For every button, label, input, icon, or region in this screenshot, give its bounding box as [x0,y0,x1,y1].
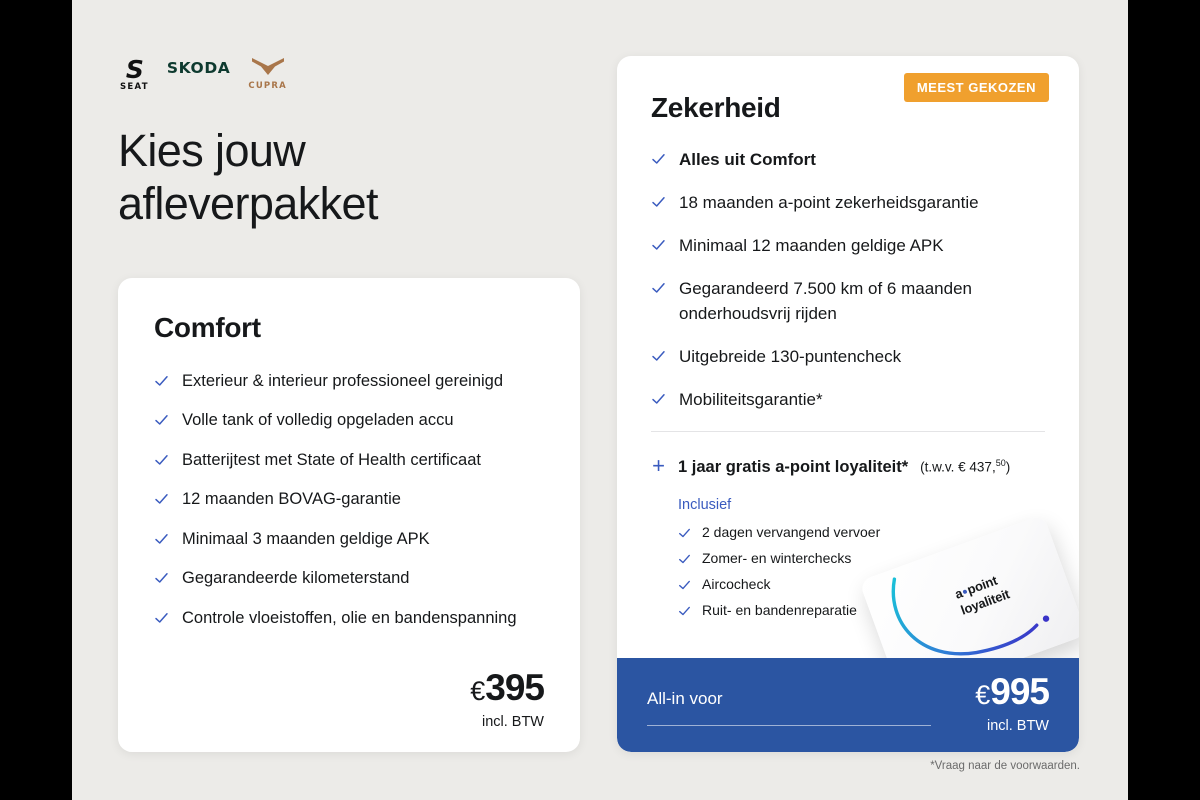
loyalty-value-suffix: ) [1006,460,1011,475]
brand-logo-bar: S SEAT SKODA CUPRA [120,55,287,93]
zekerheid-price-block: €995 incl. BTW [975,673,1049,734]
zekerheid-feature-list: Alles uit Comfort 18 maanden a-point zek… [651,148,1045,412]
list-item: Gegarandeerd 7.500 km of 6 maanden onder… [651,277,1045,325]
seat-wordmark: SEAT [120,83,149,92]
check-icon [678,579,691,592]
currency-symbol: € [975,680,989,710]
footnote-text: *Vraag naar de voorwaarden. [930,760,1080,772]
check-icon [678,553,691,566]
list-item-label: 18 maanden a-point zekerheidsgarantie [679,191,979,215]
price-value: 995 [990,671,1049,712]
loyalty-title: 1 jaar gratis a-point loyaliteit* [678,458,908,477]
check-icon [154,453,169,468]
check-icon [154,413,169,428]
price-value: 395 [485,667,544,708]
seat-logo: S SEAT [120,57,149,92]
list-item-label: Batterijtest met State of Health certifi… [182,449,481,472]
list-item: Minimaal 12 maanden geldige APK [651,234,1045,258]
list-item-label: Gegarandeerde kilometerstand [182,567,409,590]
zekerheid-vat-note: incl. BTW [975,718,1049,734]
list-item-label: Exterieur & interieur professioneel gere… [182,370,503,393]
list-item: Batterijtest met State of Health certifi… [154,449,544,472]
zekerheid-price-bar: All-in voor €995 incl. BTW [617,658,1079,752]
list-item-label: Uitgebreide 130-puntencheck [679,345,901,369]
seat-mark-icon: S [120,57,149,82]
list-item-label: Volle tank of volledig opgeladen accu [182,409,454,432]
check-icon [651,281,666,296]
list-item: 12 maanden BOVAG-garantie [154,488,544,511]
page-title: Kies jouw afleverpakket [118,124,548,230]
cupra-mark-icon [248,57,287,80]
package-card-comfort[interactable]: Comfort Exterieur & interieur profession… [118,278,580,752]
list-item-label: 2 dagen vervangend vervoer [702,524,880,540]
comfort-title: Comfort [154,312,544,344]
list-item-label: Aircocheck [702,576,770,592]
list-item-label: Alles uit Comfort [679,148,816,172]
list-item: 18 maanden a-point zekerheidsgarantie [651,191,1045,215]
comfort-price-amount: €395 [470,669,544,706]
list-item-label: Minimaal 12 maanden geldige APK [679,234,944,258]
list-item: Volle tank of volledig opgeladen accu [154,409,544,432]
check-icon [651,238,666,253]
check-icon [154,492,169,507]
list-item: Gegarandeerde kilometerstand [154,567,544,590]
check-icon [678,527,691,540]
comfort-vat-note: incl. BTW [470,714,544,730]
list-item: Alles uit Comfort [651,148,1045,172]
list-item: Controle vloeistoffen, olie en bandenspa… [154,607,544,630]
price-bar-rule [647,725,931,726]
loyalty-value-cents: 50 [996,458,1006,468]
comfort-price-block: €395 incl. BTW [470,669,544,730]
check-icon [678,605,691,618]
comfort-feature-list: Exterieur & interieur professioneel gere… [154,370,544,630]
loyalty-value-prefix: (t.w.v. € 437, [920,460,996,475]
currency-symbol: € [470,676,484,706]
skoda-logo: SKODA [167,59,231,77]
list-item-label: Minimaal 3 maanden geldige APK [182,528,430,551]
package-card-zekerheid[interactable]: MEEST GEKOZEN Zekerheid Alles uit Comfor… [617,56,1079,752]
check-icon [154,611,169,626]
check-icon [651,349,666,364]
content-canvas: S SEAT SKODA CUPRA Kies jouw afleverpakk… [72,0,1128,800]
section-divider [651,431,1045,432]
loyalty-value-note: (t.w.v. € 437,50) [920,458,1010,475]
list-item-label: Zomer- en winterchecks [702,550,851,566]
check-icon [154,532,169,547]
list-item: Minimaal 3 maanden geldige APK [154,528,544,551]
check-icon [651,392,666,407]
check-icon [154,571,169,586]
zekerheid-price-amount: €995 [975,673,1049,710]
cupra-wordmark: CUPRA [248,82,287,91]
list-item-label: 12 maanden BOVAG-garantie [182,488,401,511]
status-badge: MEEST GEKOZEN [904,73,1049,102]
plus-icon: + [651,455,666,477]
check-icon [154,374,169,389]
check-icon [651,152,666,167]
list-item: Uitgebreide 130-puntencheck [651,345,1045,369]
list-item-label: Controle vloeistoffen, olie en bandenspa… [182,607,517,630]
list-item-label: Ruit- en bandenreparatie [702,602,857,618]
list-item: Exterieur & interieur professioneel gere… [154,370,544,393]
list-item-label: Gegarandeerd 7.500 km of 6 maanden onder… [679,277,1045,325]
allin-label: All-in voor [647,689,723,709]
loyalty-heading-row: + 1 jaar gratis a-point loyaliteit* (t.w… [651,454,1045,477]
check-icon [651,195,666,210]
list-item-label: Mobiliteitsgarantie* [679,388,823,412]
screenshot-stage: S SEAT SKODA CUPRA Kies jouw afleverpakk… [0,0,1200,800]
cupra-logo: CUPRA [248,57,287,91]
list-item: Mobiliteitsgarantie* [651,388,1045,412]
included-label: Inclusief [678,497,1045,513]
